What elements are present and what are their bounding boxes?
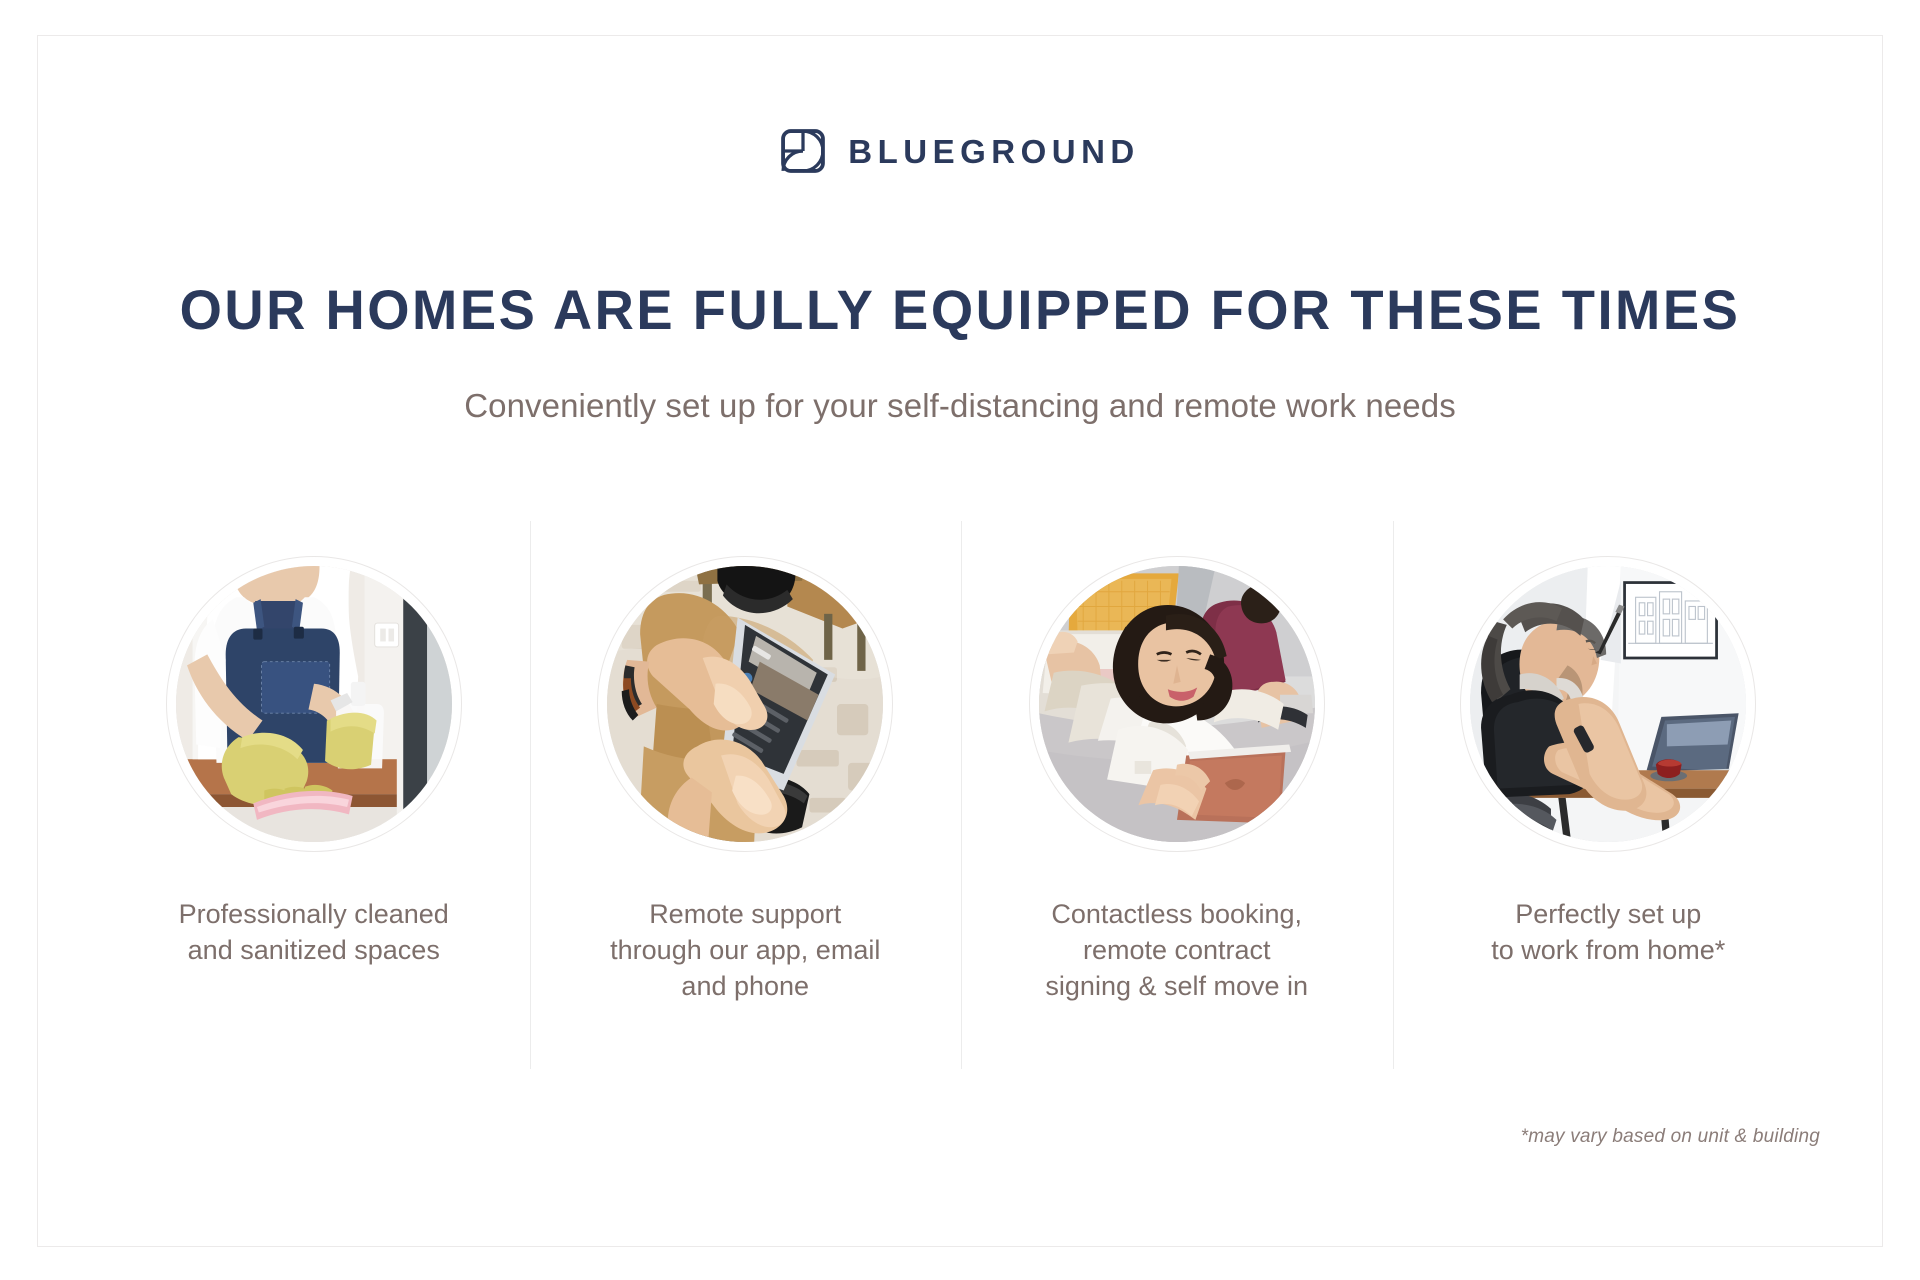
brand-lockup: BLUEGROUND xyxy=(38,128,1882,174)
feature-image-ring xyxy=(166,556,462,852)
feature-image-ring xyxy=(1029,556,1325,852)
feature-caption: Professionally cleaned and sanitized spa… xyxy=(179,897,449,969)
feature-image-ring xyxy=(597,556,893,852)
man-working-from-home-desk-photo xyxy=(1470,566,1746,842)
hands-using-phone-app-photo xyxy=(607,566,883,842)
feature-item: Contactless booking, remote contract sig… xyxy=(961,521,1393,1069)
blueground-square-logo-icon xyxy=(780,128,826,174)
brand-wordmark: BLUEGROUND xyxy=(848,135,1140,168)
feature-item: Remote support through our app, email an… xyxy=(530,521,962,1069)
feature-item: Professionally cleaned and sanitized spa… xyxy=(98,521,530,1069)
feature-columns: Professionally cleaned and sanitized spa… xyxy=(98,521,1824,1069)
footnote-disclaimer: *may vary based on unit & building xyxy=(1521,1126,1820,1148)
feature-caption: Contactless booking, remote contract sig… xyxy=(1045,897,1308,1005)
feature-caption: Perfectly set up to work from home* xyxy=(1491,897,1725,969)
page-frame: BLUEGROUND OUR HOMES ARE FULLY EQUIPPED … xyxy=(37,35,1883,1247)
feature-caption: Remote support through our app, email an… xyxy=(610,897,880,1005)
feature-item: Perfectly set up to work from home* xyxy=(1393,521,1825,1069)
woman-on-bed-with-tablet-photo xyxy=(1039,566,1315,842)
page-subtitle: Conveniently set up for your self-distan… xyxy=(38,386,1882,426)
cleaner-sanitizing-counter-photo xyxy=(176,566,452,842)
page-title: OUR HOMES ARE FULLY EQUIPPED FOR THESE T… xyxy=(66,281,1855,340)
feature-image-ring xyxy=(1460,556,1756,852)
